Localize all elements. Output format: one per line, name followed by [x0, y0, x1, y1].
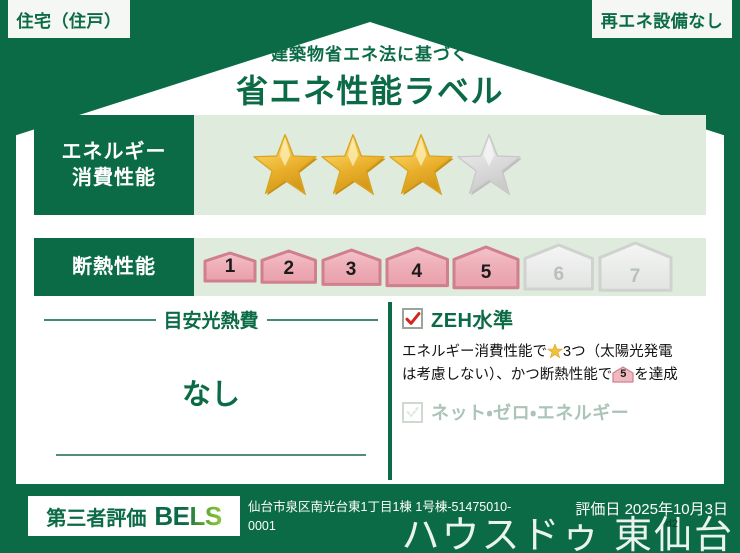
insulation-level-number: 2	[259, 258, 319, 280]
utility-cost-underline	[56, 454, 366, 456]
badge-building-type: 住宅（住戸）	[8, 0, 130, 38]
utility-cost-value: なし	[34, 371, 388, 413]
insulation-level-number: 4	[384, 261, 451, 283]
insulation-performance-row: 断熱性能 1234567	[34, 238, 706, 296]
insulation-level-4: 4	[384, 245, 451, 289]
insulation-level-number: 6	[522, 264, 596, 286]
zeh-desc-part2: は考慮しない）、かつ断熱性能で	[402, 367, 612, 383]
energy-star-rating	[194, 115, 706, 215]
star-filled-icon	[320, 132, 386, 198]
energy-performance-label: 住宅（住戸） 再エネ設備なし 建築物省エネ法に基づく 省エネ性能ラベル エネルギ…	[0, 0, 740, 553]
utility-cost-title: 目安光熱費	[164, 306, 259, 333]
utility-cost-header: 目安光熱費	[34, 306, 388, 333]
insulation-level-7: 7	[597, 240, 674, 293]
inline-house-icon: 5	[612, 366, 634, 383]
energy-performance-row: エネルギー 消費性能	[34, 115, 706, 215]
insulation-label-text: 断熱性能	[72, 254, 156, 280]
insulation-level-scale: 1234567	[194, 238, 706, 296]
net-zero-energy-label: ネット・ゼロ・エネルギー	[431, 399, 629, 425]
zeh-title: ZEH水準	[431, 304, 514, 333]
insulation-performance-label: 断熱性能	[34, 238, 194, 296]
rule-right	[267, 319, 379, 321]
bels-logo: 第三者評価 BELS	[28, 496, 240, 536]
zeh-desc-part1: エネルギー消費性能で	[402, 344, 547, 360]
insulation-level-number: 7	[597, 266, 674, 288]
watermark-small-text: d2	[666, 518, 678, 530]
bels-en-text: BELS	[154, 501, 221, 532]
star-filled-icon	[252, 132, 318, 198]
page-title: 省エネ性能ラベル	[0, 66, 740, 112]
net-zero-checkbox[interactable]	[402, 402, 423, 423]
footer-bar: 第三者評価 BELS 仙台市泉区南光台東1丁目1棟 1号棟-51475010-0…	[0, 484, 740, 553]
energy-label-line1: エネルギー	[62, 139, 167, 165]
zeh-section: ZEH水準 エネルギー消費性能で 3つ（太陽光発電 は考慮しない）、かつ断熱性能…	[388, 302, 706, 480]
zeh-heading-row: ZEH水準	[402, 304, 706, 333]
section-divider	[388, 302, 392, 480]
insulation-level-number: 3	[320, 259, 383, 281]
lower-section: 目安光熱費 なし ZEH水準 エネルギー消費性能で	[34, 302, 706, 480]
insulation-level-number: 5	[451, 262, 521, 284]
inline-star-icon	[547, 343, 563, 359]
inline-house-number: 5	[612, 366, 634, 384]
zeh-checkbox[interactable]	[402, 308, 423, 329]
insulation-level-6: 6	[522, 242, 596, 292]
star-empty-icon	[456, 132, 522, 198]
energy-label-line2: 消費性能	[72, 165, 156, 191]
zeh-desc-stars: 3つ（太陽光発電	[563, 344, 673, 360]
insulation-level-3: 3	[320, 247, 383, 287]
rule-left	[44, 319, 156, 321]
zeh-description: エネルギー消費性能で 3つ（太陽光発電 は考慮しない）、かつ断熱性能で 5 を達…	[402, 341, 688, 387]
bels-jp-text: 第三者評価	[46, 502, 146, 531]
utility-cost-section: 目安光熱費 なし	[34, 302, 388, 480]
insulation-level-number: 1	[202, 256, 258, 278]
watermark-brand: ハウスドゥ 東仙台	[401, 504, 734, 553]
star-filled-icon	[388, 132, 454, 198]
header-subtitle: 建築物省エネ法に基づく	[0, 40, 740, 65]
zeh-desc-part3: を達成	[634, 367, 678, 383]
badge-renewable-equipment: 再エネ設備なし	[592, 0, 732, 38]
net-zero-energy-row: ネット・ゼロ・エネルギー	[402, 399, 706, 425]
insulation-level-1: 1	[202, 250, 258, 284]
insulation-level-5: 5	[451, 244, 521, 291]
energy-performance-label: エネルギー 消費性能	[34, 115, 194, 215]
insulation-level-2: 2	[259, 248, 319, 285]
